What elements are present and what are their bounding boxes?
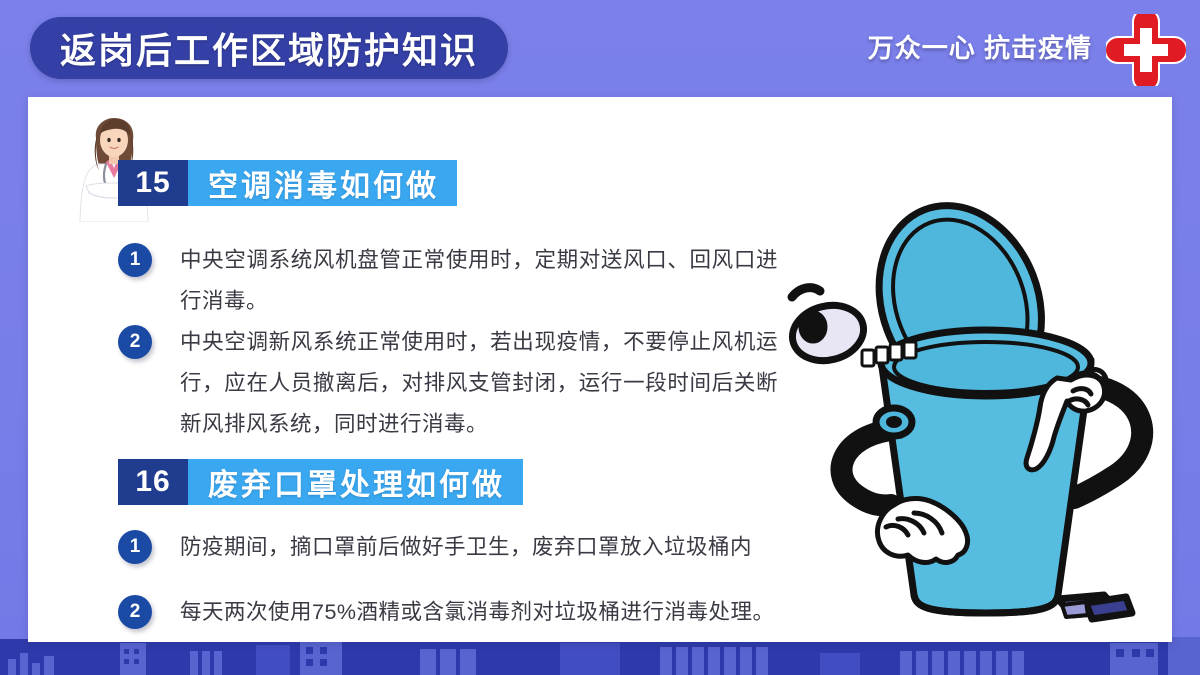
bullet-marker: 2: [118, 325, 152, 359]
red-medical-cross-icon: [1106, 14, 1186, 86]
page-title: 返岗后工作区域防护知识: [30, 17, 508, 79]
section-title-15: 空调消毒如何做: [188, 160, 457, 206]
section-number-15: 15: [118, 160, 188, 206]
section-banner-16: 16 废弃口罩处理如何做: [118, 459, 523, 505]
section-15-list: 1 中央空调系统风机盘管正常使用时，定期对送风口、回风口进行消毒。 2 中央空调…: [118, 240, 778, 445]
list-item: 2 每天两次使用75%酒精或含氯消毒剂对垃圾桶进行消毒处理。: [118, 592, 808, 633]
section-title-16: 废弃口罩处理如何做: [188, 459, 523, 505]
bullet-marker: 1: [118, 530, 152, 564]
bullet-marker: 2: [118, 595, 152, 629]
slide-root: 返岗后工作区域防护知识 万众一心 抗击疫情: [0, 0, 1200, 675]
section-16-list: 1 防疫期间，摘口罩前后做好手卫生，废弃口罩放入垃圾桶内 2 每天两次使用75%…: [118, 527, 808, 657]
page-title-text: 返岗后工作区域防护知识: [60, 22, 478, 74]
bullet-text: 防疫期间，摘口罩前后做好手卫生，废弃口罩放入垃圾桶内: [180, 527, 808, 568]
list-item: 2 中央空调新风系统正常使用时，若出现疫情，不要停止风机运行，应在人员撤离后，对…: [118, 322, 778, 445]
section-number-16: 16: [118, 459, 188, 505]
slogan-text: 万众一心 抗击疫情: [868, 28, 1092, 65]
section-banner-15: 15 空调消毒如何做: [118, 160, 457, 206]
bullet-text: 每天两次使用75%酒精或含氯消毒剂对垃圾桶进行消毒处理。: [180, 592, 808, 633]
bullet-text: 中央空调系统风机盘管正常使用时，定期对送风口、回风口进行消毒。: [180, 240, 778, 322]
list-item: 1 防疫期间，摘口罩前后做好手卫生，废弃口罩放入垃圾桶内: [118, 527, 808, 568]
cartoon-trashcan-illustration: [786, 175, 1186, 640]
bullet-marker: 1: [118, 243, 152, 277]
bullet-text: 中央空调新风系统正常使用时，若出现疫情，不要停止风机运行，应在人员撤离后，对排风…: [180, 322, 778, 445]
list-item: 1 中央空调系统风机盘管正常使用时，定期对送风口、回风口进行消毒。: [118, 240, 778, 322]
